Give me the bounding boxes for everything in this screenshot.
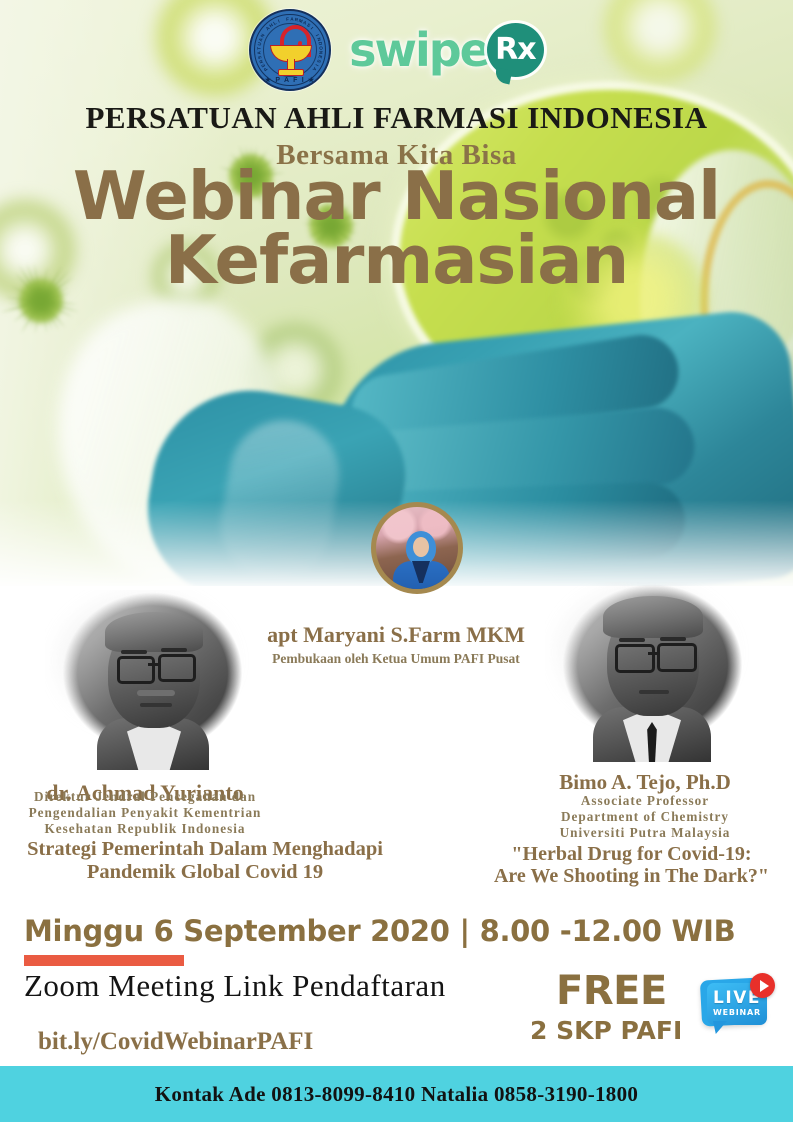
price-free-label: FREE <box>556 968 667 1014</box>
bowl-of-hygieia-icon <box>267 25 313 75</box>
speaker-right-photo <box>545 582 760 762</box>
registration-link[interactable]: bit.ly/CovidWebinarPAFI <box>38 1028 313 1056</box>
event-date-time: Minggu 6 September 2020 | 8.00 -12.00 WI… <box>24 914 735 948</box>
speaker-right-topic-line-1: "Herbal Drug for Covid-19: <box>470 843 793 865</box>
speaker-left-photo <box>45 590 260 770</box>
speaker-center-name: apt Maryani S.Farm MKM <box>246 622 546 648</box>
speaker-right-name: Bimo A. Tejo, Ph.D <box>500 770 790 795</box>
pafi-ring-char: A <box>257 51 262 55</box>
speaker-right-role: Associate Professor Department of Chemis… <box>500 793 790 841</box>
live-webinar-badge: LIVE WEBINAR <box>697 973 777 1043</box>
portrait-mouth <box>140 703 172 707</box>
glasses-icon <box>158 654 196 682</box>
portrait-brow <box>619 638 645 642</box>
portrait-brow <box>660 637 686 641</box>
badge-webinar-label: WEBINAR <box>713 1007 761 1018</box>
speaker-right-role-line-3: Universiti Putra Malaysia <box>500 825 790 841</box>
contact-text: Kontak Ade 0813-8099-8410 Natalia 0858-3… <box>155 1082 638 1107</box>
glasses-icon <box>615 644 655 673</box>
platform-registration-label: Zoom Meeting Link Pendaftaran <box>24 968 446 1004</box>
speaker-right-role-line-2: Department of Chemistry <box>500 809 790 825</box>
speaker-left-role-line-2: Pengendalian Penyakit Kementrian <box>0 805 290 821</box>
logo-row: PERSATUAN AHLI FARMASI INDONESIA ★ P A F… <box>0 4 793 96</box>
pafi-ring-char: I <box>278 18 281 23</box>
pafi-ring-char: U <box>257 41 263 46</box>
speaker-left-role-line-1: Direktur Jendral Pencegahan dan <box>0 789 290 805</box>
speaker-left-topic: Strategi Pemerintah Dalam Menghadapi Pan… <box>0 838 410 884</box>
portrait-hair <box>105 612 203 652</box>
portrait-hair <box>603 596 703 638</box>
speaker-right-role-line-1: Associate Professor <box>500 793 790 809</box>
speaker-left-topic-line-2: Pandemik Global Covid 19 <box>0 861 410 884</box>
skp-credits-label: 2 SKP PAFI <box>530 1016 682 1045</box>
bowl-base-icon <box>278 69 304 76</box>
speaker-center-subtitle: Pembukaan oleh Ketua Umum PAFI Pusat <box>246 651 546 667</box>
glasses-icon <box>657 643 697 672</box>
speaker-right-topic-line-2: Are We Shooting in The Dark?" <box>470 865 793 887</box>
contact-strip: Kontak Ade 0813-8099-8410 Natalia 0858-3… <box>0 1066 793 1122</box>
pafi-ring-char: S <box>316 59 322 64</box>
pafi-ring-char: F <box>286 16 290 21</box>
organization-name: PERSATUAN AHLI FARMASI INDONESIA <box>0 100 793 136</box>
rx-label: Rx <box>495 35 535 65</box>
page-title: Webinar Nasional Kefarmasian <box>0 165 793 292</box>
bacteria-cluster-icon <box>40 300 42 302</box>
pafi-logo-icon: PERSATUAN AHLI FARMASI INDONESIA ★ P A F… <box>249 9 331 91</box>
speaker-left-topic-line-1: Strategi Pemerintah Dalam Menghadapi <box>0 838 410 861</box>
swipe-wordmark: swipe <box>349 27 489 73</box>
glasses-bridge <box>148 663 160 666</box>
title-line-2: Kefarmasian <box>0 229 793 293</box>
play-button-icon <box>750 973 775 998</box>
portrait-brow <box>121 650 147 654</box>
rx-speech-bubble-icon: Rx <box>487 23 544 77</box>
webinar-poster: PERSATUAN AHLI FARMASI INDONESIA ★ P A F… <box>0 0 793 1122</box>
speaker-center-avatar <box>371 502 463 594</box>
portrait-brow <box>161 648 187 652</box>
speaker-left-role-line-3: Kesehatan Republik Indonesia <box>0 821 290 837</box>
glasses-icon <box>117 656 155 684</box>
speaker-left-role: Direktur Jendral Pencegahan dan Pengenda… <box>0 789 290 837</box>
avatar-face <box>413 537 429 557</box>
speaker-right-topic: "Herbal Drug for Covid-19: Are We Shooti… <box>470 843 793 888</box>
swiperx-logo: swipe Rx <box>349 23 544 77</box>
portrait-moustache <box>137 690 175 696</box>
pafi-ring-char: T <box>257 46 262 50</box>
glasses-bridge <box>648 652 658 655</box>
red-accent-bar <box>24 955 184 966</box>
pafi-logo-bottom-label: ★ P A F I ★ <box>251 76 329 84</box>
portrait-mouth <box>639 690 669 694</box>
